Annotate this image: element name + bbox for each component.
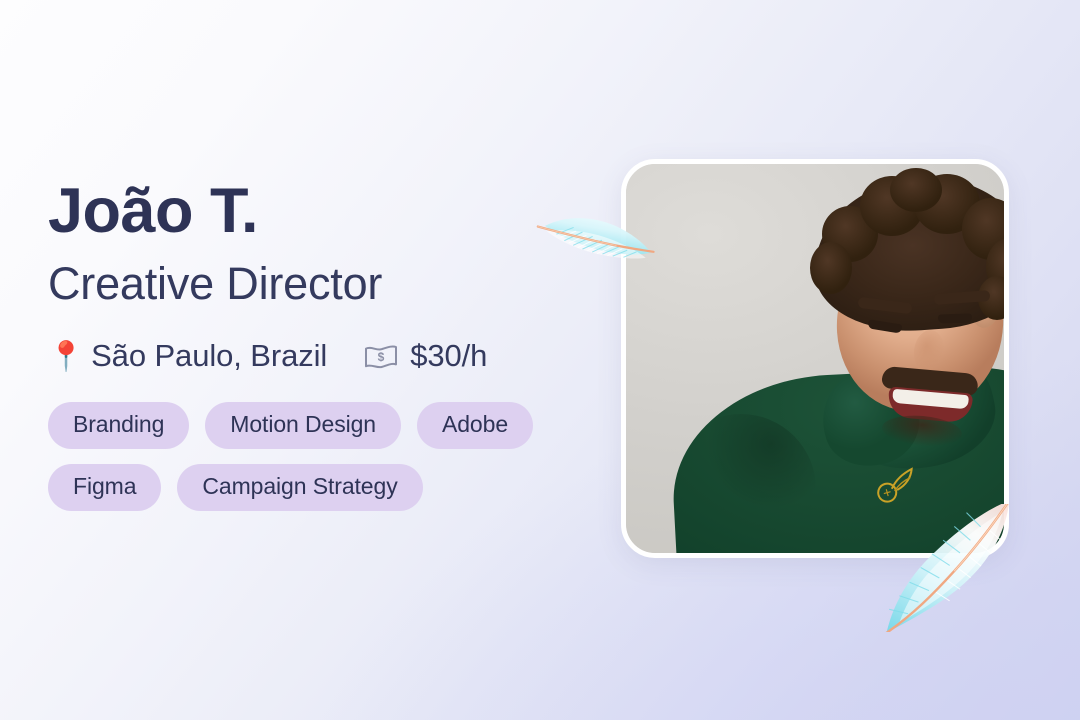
- profile-photo: [626, 164, 1004, 553]
- rate-meta: $ $30/h: [363, 338, 487, 374]
- eye: [938, 313, 972, 323]
- skill-tag-list: Branding Motion Design Adobe Figma Campa…: [48, 402, 548, 511]
- location-pin-icon: 📍: [48, 343, 84, 372]
- profile-photo-card[interactable]: [621, 159, 1009, 558]
- hair-curl: [890, 168, 942, 212]
- svg-text:$: $: [378, 350, 385, 364]
- profile-role: Creative Director: [48, 259, 608, 309]
- rate-text: $30/h: [410, 338, 487, 374]
- skill-tag[interactable]: Motion Design: [205, 402, 401, 449]
- hoodie-shadow: [666, 414, 816, 553]
- profile-info-column: João T. Creative Director 📍 São Paulo, B…: [48, 178, 608, 511]
- profile-name: João T.: [48, 178, 608, 245]
- profile-card-canvas: João T. Creative Director 📍 São Paulo, B…: [0, 0, 1080, 720]
- skill-tag[interactable]: Campaign Strategy: [177, 464, 422, 511]
- location-meta: 📍 São Paulo, Brazil: [48, 338, 327, 374]
- skill-tag[interactable]: Adobe: [417, 402, 533, 449]
- teeth: [892, 389, 969, 410]
- skill-tag[interactable]: Branding: [48, 402, 189, 449]
- hair-curl: [810, 242, 852, 294]
- skill-tag[interactable]: Figma: [48, 464, 161, 511]
- location-text: São Paulo, Brazil: [91, 338, 327, 374]
- profile-meta-row: 📍 São Paulo, Brazil $ $30/h: [48, 338, 608, 374]
- banknote-icon: $: [363, 342, 410, 370]
